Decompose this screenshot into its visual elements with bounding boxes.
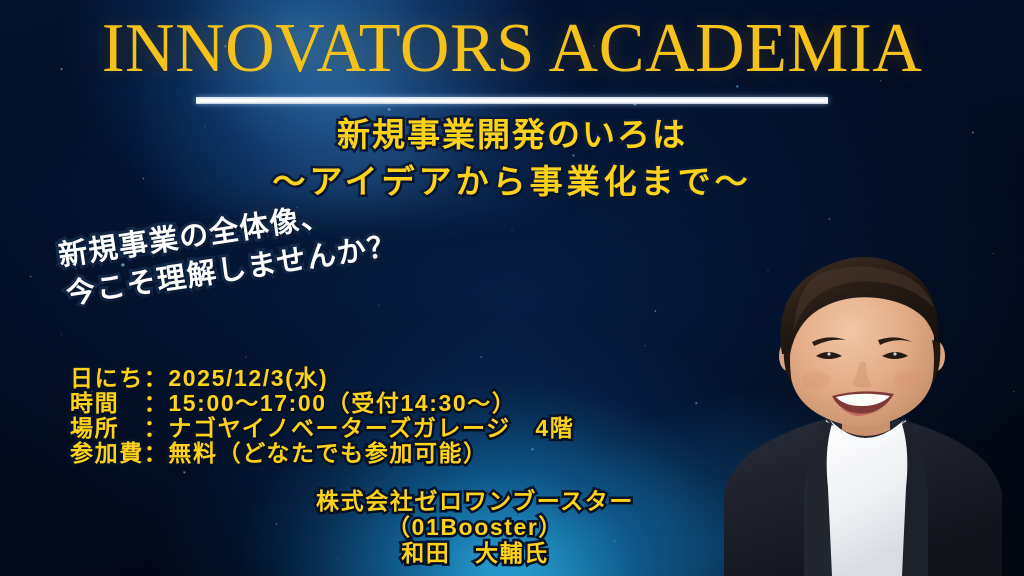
lower-lip — [840, 408, 886, 416]
lapel-left — [804, 420, 832, 576]
detail-row-venue: 場所 ：ナゴヤイノベーターズガレージ 4階 — [70, 416, 574, 441]
detail-row-fee: 参加費：無料（どなたでも参加可能） — [70, 441, 574, 466]
presenter-block: 株式会社ゼロワンブースター （01Booster） 和田 大輔氏 — [280, 488, 670, 566]
eye-left — [816, 352, 842, 359]
eyebrow-left — [812, 337, 846, 346]
angled-callout: 新規事業の全体像、 今こそ理解しませんか？ — [56, 188, 400, 315]
teeth-shape — [836, 394, 890, 406]
hair-sideburn-right — [932, 340, 940, 384]
ear-left — [779, 341, 797, 371]
detail-row-time: 時間 ：15:00～17:00（受付14:30～） — [70, 391, 574, 416]
event-poster: INNOVATORS ACADEMIA 新規事業開発のいろは ～アイデアから事業… — [0, 0, 1024, 576]
eyebrow-right — [878, 337, 912, 345]
eye-right — [882, 352, 908, 359]
title-divider-rule — [196, 97, 828, 104]
subtitle-line-1: 新規事業開発のいろは — [0, 112, 1024, 159]
ear-right — [927, 341, 945, 371]
hair-shape — [780, 257, 938, 356]
tshirt-collar — [830, 420, 904, 448]
face-shape — [790, 271, 934, 427]
hair-sideburn-left — [784, 340, 792, 384]
cheek-right — [894, 371, 922, 389]
jacket-shape — [724, 414, 1002, 576]
neck-shape — [842, 388, 890, 436]
eye-highlight-left — [827, 352, 830, 355]
speaker-portrait — [722, 238, 1024, 576]
presenter-name: 和田 大輔氏 — [280, 540, 670, 566]
tshirt-shape — [824, 420, 910, 576]
presenter-company: 株式会社ゼロワンブースター — [280, 488, 670, 514]
subtitle-line-2: ～アイデアから事業化まで～ — [0, 159, 1024, 206]
neck-shadow — [842, 388, 890, 422]
hair-sweep — [794, 266, 934, 330]
cheek-left — [802, 371, 830, 389]
poster-title: INNOVATORS ACADEMIA — [10, 14, 1014, 84]
mouth-shape — [832, 391, 894, 414]
lapel-right — [902, 420, 928, 576]
eye-highlight-right — [893, 352, 896, 355]
presenter-company-en: （01Booster） — [280, 514, 670, 540]
detail-row-date: 日にち：2025/12/3(水) — [70, 366, 574, 391]
event-details: 日にち：2025/12/3(水) 時間 ：15:00～17:00（受付14:30… — [70, 366, 574, 466]
nose-shape — [852, 362, 872, 388]
poster-subtitle: 新規事業開発のいろは ～アイデアから事業化まで～ — [0, 112, 1024, 206]
